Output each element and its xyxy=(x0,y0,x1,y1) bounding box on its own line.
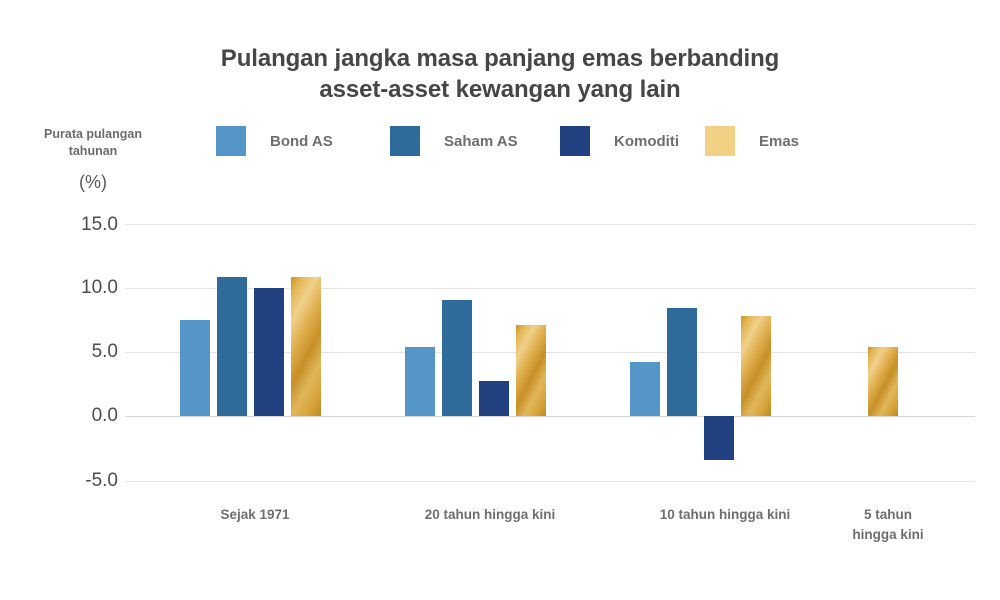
x-label-5-tahun: 5 tahun hingga kini xyxy=(823,505,953,544)
bar-10-tahun-saham-as[interactable] xyxy=(667,308,697,416)
legend-label-saham-as: Saham AS xyxy=(444,133,518,150)
y-tick-minus-5: -5.0 xyxy=(48,470,118,492)
plot-area xyxy=(125,200,975,500)
y-tick-10: 10.0 xyxy=(48,277,118,299)
y-axis-caption-line-1: Purata pulangan xyxy=(18,126,168,143)
y-tick-5: 5.0 xyxy=(48,341,118,363)
legend-label-emas: Emas xyxy=(759,133,799,150)
legend-item-emas[interactable]: Emas xyxy=(705,124,799,158)
bar-sejak-1971-saham-as[interactable] xyxy=(217,277,247,416)
x-label-10-tahun-line-1: 10 tahun hingga kini xyxy=(630,505,820,525)
x-label-20-tahun: 20 tahun hingga kini xyxy=(395,505,585,525)
chart-container: Pulangan jangka masa panjang emas berban… xyxy=(0,0,1000,600)
x-label-10-tahun: 10 tahun hingga kini xyxy=(630,505,820,525)
legend-item-saham-as[interactable]: Saham AS xyxy=(390,124,518,158)
y-tick-15: 15.0 xyxy=(48,214,118,236)
bar-10-tahun-bond-as[interactable] xyxy=(630,362,660,416)
legend-swatch-saham-as xyxy=(390,126,420,156)
gridline-15 xyxy=(125,224,975,225)
x-label-20-tahun-line-1: 20 tahun hingga kini xyxy=(395,505,585,525)
x-label-5-tahun-line-2: hingga kini xyxy=(823,525,953,545)
legend-item-bond-as[interactable]: Bond AS xyxy=(216,124,333,158)
bar-20-tahun-saham-as[interactable] xyxy=(442,300,472,416)
legend-swatch-komoditi xyxy=(560,126,590,156)
legend-swatch-emas xyxy=(705,126,735,156)
y-tick-0: 0.0 xyxy=(48,405,118,427)
chart-title-line-2: asset-asset kewangan yang lain xyxy=(130,75,870,106)
bar-sejak-1971-emas[interactable] xyxy=(291,277,321,416)
x-label-5-tahun-line-1: 5 tahun xyxy=(823,505,953,525)
chart-title-line-1: Pulangan jangka masa panjang emas berban… xyxy=(130,44,870,75)
chart-title: Pulangan jangka masa panjang emas berban… xyxy=(130,44,870,105)
legend-label-komoditi: Komoditi xyxy=(614,133,679,150)
gridline-0 xyxy=(125,416,975,417)
bar-10-tahun-komoditi[interactable] xyxy=(704,416,734,460)
bar-sejak-1971-bond-as[interactable] xyxy=(180,320,210,416)
bar-10-tahun-emas[interactable] xyxy=(741,316,771,416)
legend-label-bond-as: Bond AS xyxy=(270,133,333,150)
y-axis-caption-line-2: tahunan xyxy=(18,143,168,160)
legend-item-komoditi[interactable]: Komoditi xyxy=(560,124,679,158)
x-label-sejak-1971-line-1: Sejak 1971 xyxy=(165,505,345,525)
bar-sejak-1971-komoditi[interactable] xyxy=(254,288,284,416)
bar-20-tahun-emas[interactable] xyxy=(516,325,546,416)
bar-20-tahun-bond-as[interactable] xyxy=(405,347,435,416)
y-axis-unit: (%) xyxy=(18,172,168,193)
gridline-minus-5 xyxy=(125,481,975,482)
y-axis-caption: Purata pulangan tahunan xyxy=(18,126,168,160)
bar-20-tahun-komoditi[interactable] xyxy=(479,381,509,416)
gridline-10 xyxy=(125,288,975,289)
x-label-sejak-1971: Sejak 1971 xyxy=(165,505,345,525)
bar-5-tahun-emas[interactable] xyxy=(868,347,898,416)
legend-swatch-bond-as xyxy=(216,126,246,156)
gridline-5 xyxy=(125,352,975,353)
